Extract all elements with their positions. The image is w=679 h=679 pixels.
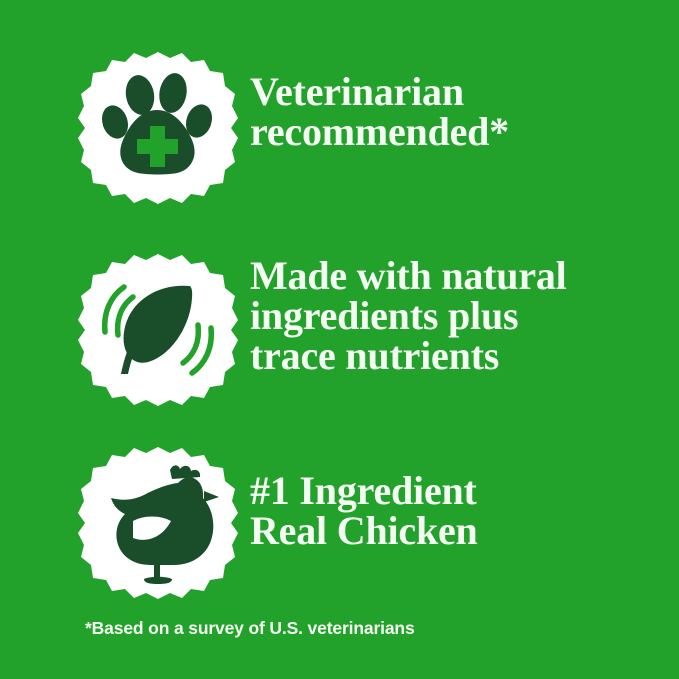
feature-row-real-chicken: #1 Ingredient Real Chicken [0,443,679,603]
footnote-disclaimer: *Based on a survey of U.S. veterinarians [85,617,415,639]
promo-panel: Veterinarian recommended* [0,0,679,679]
paw-with-medical-cross-badge-icon [78,48,238,208]
leaf-badge-icon [78,250,238,410]
feature-label-natural-ingredients: Made with natural ingredients plus trace… [250,250,679,376]
feature-row-veterinarian: Veterinarian recommended* [0,48,679,208]
chicken-badge-icon [78,443,238,603]
feature-row-natural-ingredients: Made with natural ingredients plus trace… [0,250,679,410]
feature-label-veterinarian: Veterinarian recommended* [250,48,679,152]
feature-label-real-chicken: #1 Ingredient Real Chicken [250,443,679,551]
